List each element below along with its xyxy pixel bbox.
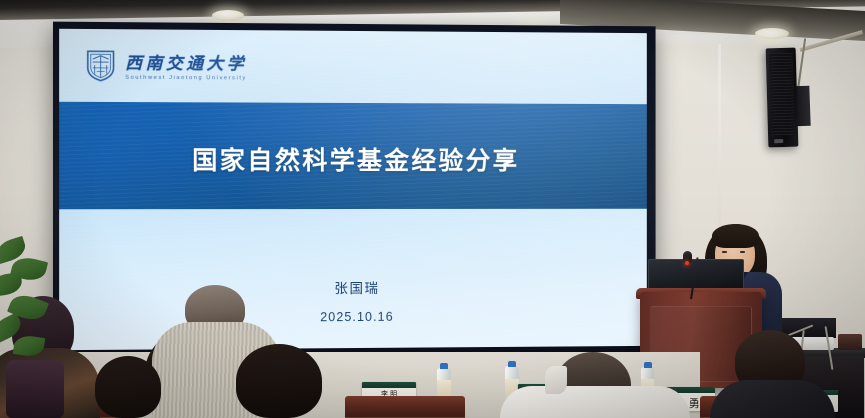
name-card-header-bar <box>362 382 416 388</box>
bottle-cap-2 <box>508 361 516 367</box>
university-name-cn: 西南交通大学 <box>125 49 247 74</box>
microphone-status-led <box>685 261 689 265</box>
speaker-grille <box>769 53 795 136</box>
audience-member-5-body <box>710 380 835 418</box>
wall-speaker-icon <box>766 48 799 148</box>
audience-member-6-mask <box>545 366 567 394</box>
audience-member-6-body <box>500 386 690 418</box>
bottle-cap-3 <box>644 362 652 368</box>
ceiling-downlight-4 <box>755 28 789 39</box>
av-device-box <box>838 334 862 350</box>
slide-title: 国家自然科学基金经验分享 <box>59 141 647 178</box>
presenter-hair-fringe <box>712 224 759 248</box>
plant-pot <box>6 360 64 418</box>
projection-screen-frame: 西南交通大学 Southwest Jiaotong University 国家自… <box>53 22 656 361</box>
audience-table-mid <box>345 396 465 418</box>
university-name-en: Southwest Jiaotong University <box>125 75 247 82</box>
ceiling-downlight-1 <box>212 10 244 21</box>
audience-member-4-head <box>236 344 322 418</box>
slide-presenter-name: 张国瑞 <box>59 276 647 299</box>
audience-member-7-head <box>95 356 161 418</box>
presenter-eye-left <box>722 251 727 253</box>
speaker-brand-logo <box>774 139 783 143</box>
bottle-cap-1 <box>440 363 448 369</box>
shield-crest-icon <box>86 48 116 82</box>
plant-leaf <box>0 272 23 296</box>
projection-screen[interactable]: 西南交通大学 Southwest Jiaotong University 国家自… <box>59 29 647 350</box>
presenter-eye-right <box>740 251 745 253</box>
university-name-block: 西南交通大学 Southwest Jiaotong University <box>125 49 247 81</box>
conference-room-photo: 西南交通大学 Southwest Jiaotong University 国家自… <box>0 0 865 418</box>
plant-leaf <box>13 334 45 358</box>
university-branding: 西南交通大学 Southwest Jiaotong University <box>86 48 247 82</box>
